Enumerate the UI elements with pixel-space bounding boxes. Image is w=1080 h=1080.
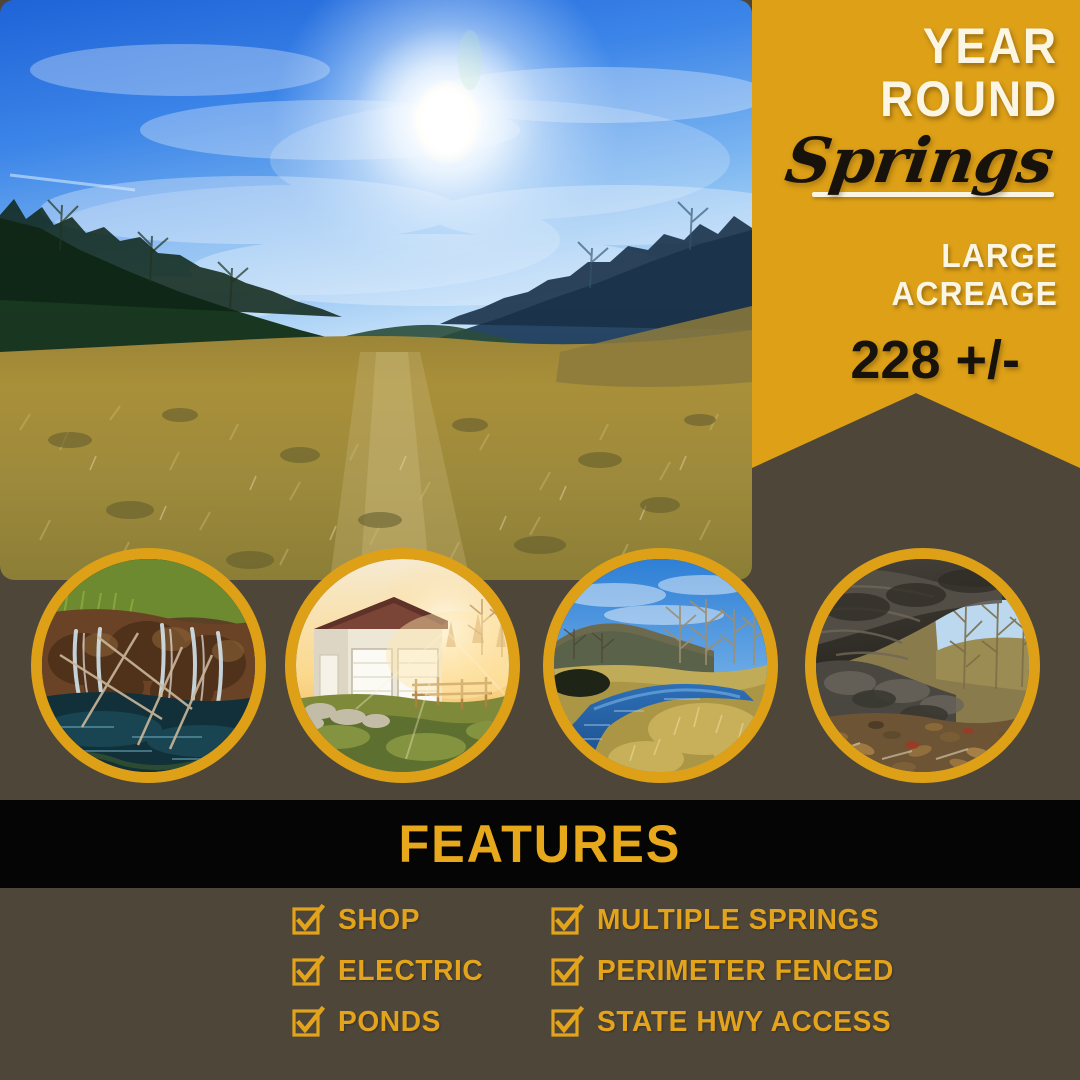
thumb-shop-building[interactable] — [285, 548, 520, 783]
checkbox-checked-icon — [292, 905, 322, 935]
thumb-creek-pond[interactable] — [543, 548, 778, 783]
banner-line-2: ROUND — [789, 75, 1058, 124]
feature-label: STATE HWY ACCESS — [597, 1006, 891, 1039]
features-column-left: SHOP ELECTRIC PONDS — [292, 895, 488, 1048]
creek-pond-illustration — [554, 559, 767, 772]
features-title-bar: FEATURES — [0, 800, 1080, 888]
feature-item[interactable]: SHOP — [292, 895, 488, 945]
feature-label: MULTIPLE SPRINGS — [597, 904, 879, 937]
thumb-spring-waterfall[interactable] — [31, 548, 266, 783]
feature-item[interactable]: PERIMETER FENCED — [551, 946, 903, 996]
banner-script-word: Springs — [756, 130, 1056, 192]
headline-banner: YEAR ROUND Springs LARGE ACREAGE 228 +/- — [752, 0, 1080, 468]
checkbox-checked-icon — [292, 956, 322, 986]
checkbox-checked-icon — [551, 956, 581, 986]
feature-item[interactable]: MULTIPLE SPRINGS — [551, 895, 903, 945]
hero-photo — [0, 0, 752, 580]
banner-acreage-value: 228 +/- — [766, 329, 1020, 391]
banner-subtitle: LARGE ACREAGE — [778, 237, 1058, 313]
poster-canvas: YEAR ROUND Springs LARGE ACREAGE 228 +/- — [0, 0, 1080, 1080]
feature-label: PERIMETER FENCED — [597, 955, 894, 988]
feature-item[interactable]: PONDS — [292, 997, 488, 1047]
feature-label: ELECTRIC — [338, 955, 483, 988]
checkbox-checked-icon — [292, 1007, 322, 1037]
feature-label: PONDS — [338, 1006, 441, 1039]
thumb-rock-bluff[interactable] — [805, 548, 1040, 783]
spring-waterfall-illustration — [42, 559, 255, 772]
feature-label: SHOP — [338, 904, 420, 937]
features-column-right: MULTIPLE SPRINGS PERIMETER FENCED STATE … — [551, 895, 903, 1048]
features-grid: SHOP ELECTRIC PONDS MULTIPLE SPRINGS — [0, 895, 1080, 1055]
hero-illustration — [0, 0, 752, 580]
features-title: FEATURES — [399, 814, 682, 875]
rock-bluff-illustration — [816, 559, 1029, 772]
checkbox-checked-icon — [551, 1007, 581, 1037]
banner-line-1: YEAR — [789, 22, 1058, 71]
feature-item[interactable]: STATE HWY ACCESS — [551, 997, 903, 1047]
checkbox-checked-icon — [551, 905, 581, 935]
shop-building-illustration — [296, 559, 509, 772]
feature-item[interactable]: ELECTRIC — [292, 946, 488, 996]
